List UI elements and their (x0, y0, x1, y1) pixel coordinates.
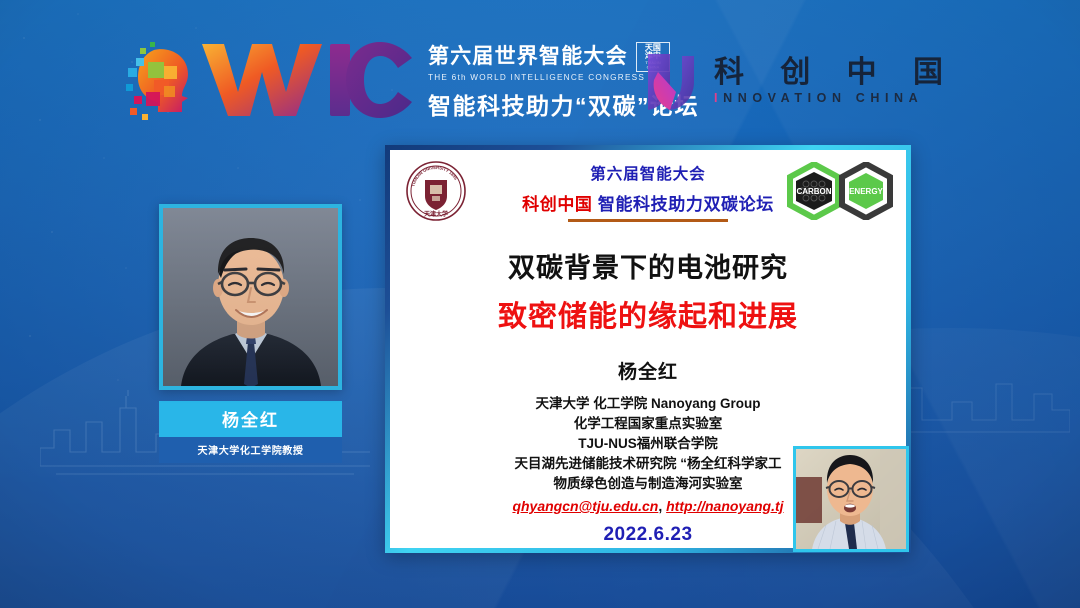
livestream-stage: 第六届世界智能大会 天国 津中 TIANJIN CHINA THE 6th WO… (0, 0, 1080, 608)
slide-title-secondary: 致密储能的缘起和进展 (390, 293, 906, 335)
slide-title-block: 双碳背景下的电池研究 致密储能的缘起和进展 (390, 246, 906, 335)
carbon-label: CARBON (796, 187, 831, 196)
innovation-china-mark-icon (640, 48, 702, 114)
innovation-china-logo-block: 科 创 中 国 INNOVATION CHINA (640, 48, 957, 114)
speaker-nameplate: 杨全红 天津大学化工学院教授 (159, 401, 342, 463)
presenter-webcam-pip[interactable] (793, 446, 909, 552)
innovation-china-en: INNOVATION CHINA (714, 91, 957, 105)
contact-email[interactable]: qhyangcn@tju.edu.cn (512, 498, 658, 514)
speaker-title: 天津大学化工学院教授 (159, 437, 342, 463)
speaker-name: 杨全红 (159, 401, 342, 437)
slide-author: 杨全红 (390, 357, 906, 384)
slide-header-underline (568, 219, 728, 222)
speaker-photo-frame (159, 204, 342, 390)
slide-header-blue: 智能科技助力双碳论坛 (598, 195, 774, 214)
speaker-portrait (163, 208, 338, 386)
event-header: 第六届世界智能大会 天国 津中 TIANJIN CHINA THE 6th WO… (0, 0, 1080, 140)
innovation-china-text: 科 创 中 国 INNOVATION CHINA (714, 57, 957, 105)
slide-title-primary: 双碳背景下的电池研究 (390, 246, 906, 285)
slide-header-red: 科创中国 (522, 195, 592, 214)
carbon-energy-badge-icon: CARBON ENERGY (782, 162, 898, 220)
affiliation-line: 化学工程国家重点实验室 (390, 414, 906, 434)
wic-logo-block: 第六届世界智能大会 天国 津中 TIANJIN CHINA THE 6th WO… (124, 36, 699, 124)
energy-label: ENERGY (849, 187, 883, 196)
wic-title-cn: 第六届世界智能大会 (428, 45, 628, 69)
innovation-china-cn: 科 创 中 国 (714, 57, 957, 89)
speaker-card: 杨全红 天津大学化工学院教授 (159, 204, 342, 463)
affiliation-line: 天津大学 化工学院 Nanoyang Group (390, 394, 906, 414)
presenter-webcam-video (796, 449, 906, 549)
slide-header-line2: 科创中国 智能科技助力双碳论坛 (522, 190, 774, 222)
wic-pixel-head-icon (124, 40, 198, 124)
contact-url[interactable]: http://nanoyang.tj (666, 498, 783, 514)
slide-header: 天津大学 TIANJIN UNIVERSITY 1895 第六届智能大会 科创中… (390, 150, 906, 236)
contact-separator: , (658, 498, 666, 514)
wic-wordmark (200, 36, 414, 122)
